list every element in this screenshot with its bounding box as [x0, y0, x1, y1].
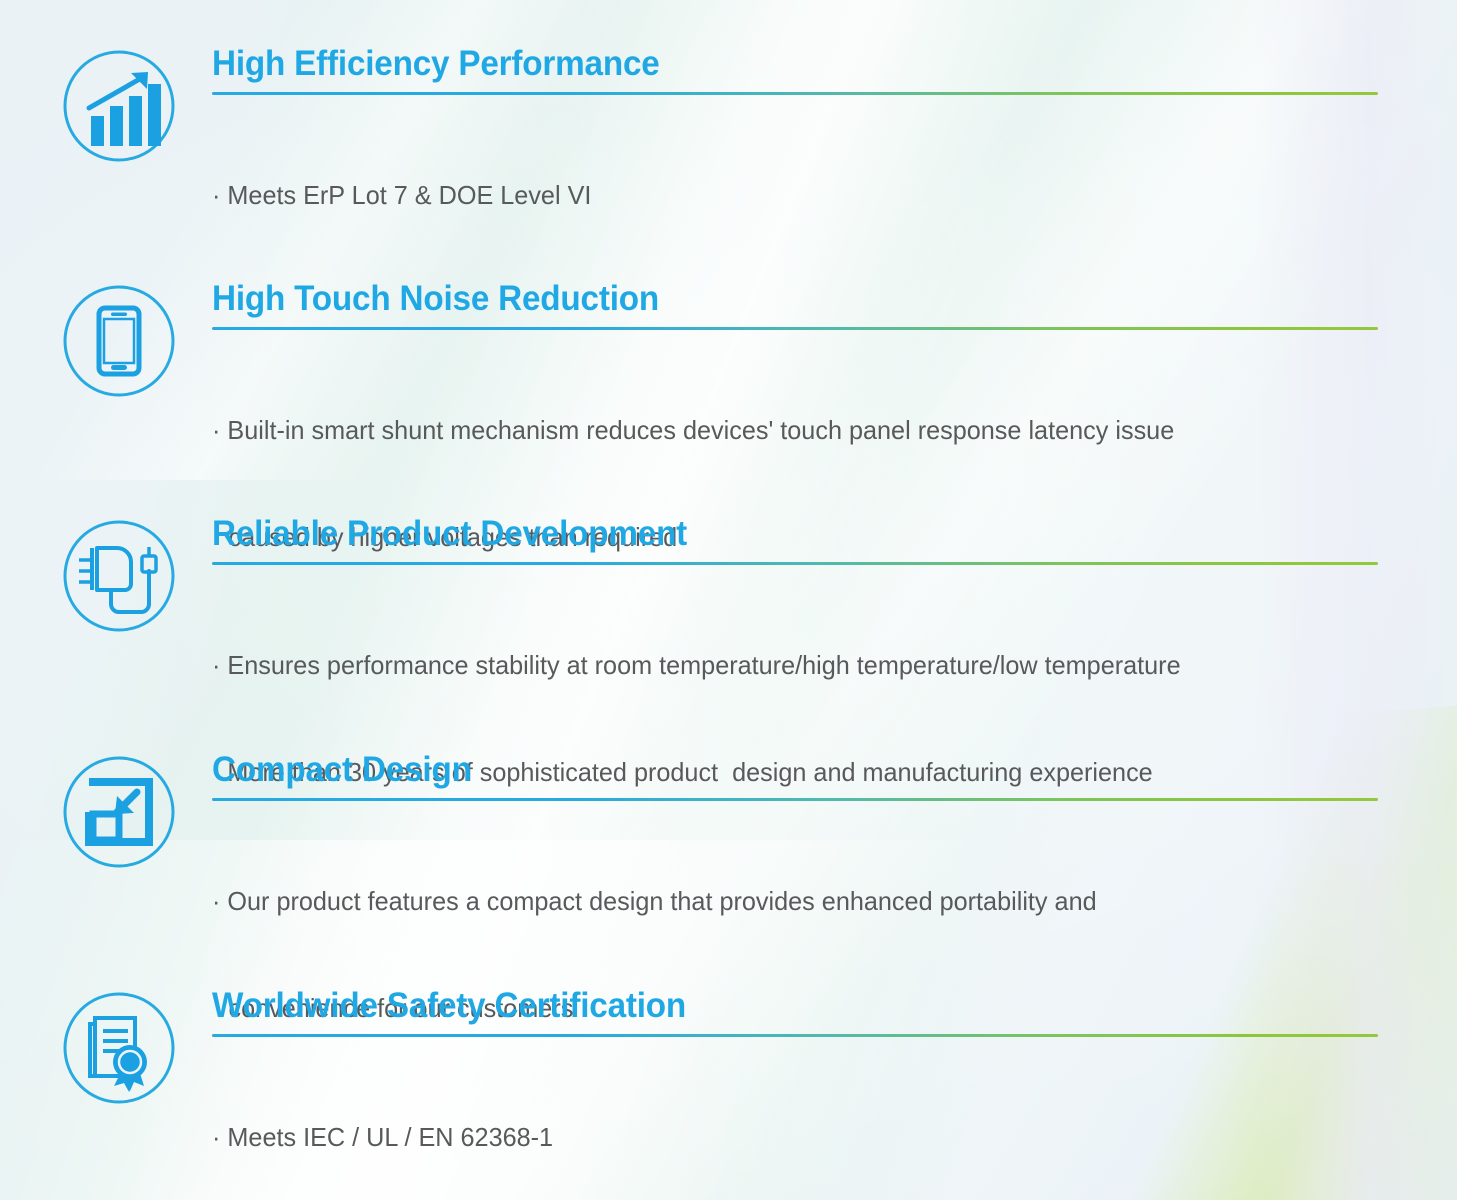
feature-title: Compact Design	[212, 752, 1320, 789]
description-line: · Built-in smart shunt mechanism reduces…	[212, 413, 1343, 449]
feature-divider	[212, 92, 1378, 95]
feature-text-block: Worldwide Safety Certification · Meets I…	[212, 988, 1457, 1200]
certificate-award-icon	[59, 988, 179, 1108]
feature-highlights-page: High Efficiency Performance · Meets ErP …	[0, 0, 1457, 1200]
feature-icon-container	[56, 516, 182, 636]
feature-title: High Touch Noise Reduction	[212, 281, 1320, 318]
description-line: · Meets IEC / UL / EN 62368-1	[212, 1120, 1343, 1156]
feature-divider	[212, 1034, 1378, 1037]
feature-divider	[212, 798, 1378, 801]
compact-resize-icon	[59, 752, 179, 872]
feature-icon-container	[56, 281, 182, 401]
feature-description: · Meets ErP Lot 7 & DOE Level VI	[212, 106, 1343, 285]
description-line: · Our product features a compact design …	[212, 884, 1343, 920]
feature-title: Reliable Product Development	[212, 516, 1320, 553]
feature-item-worldwide-safety-certification: Worldwide Safety Certification · Meets I…	[0, 988, 1457, 1200]
description-line: · Ensures performance stability at room …	[212, 648, 1343, 684]
power-adapter-icon	[59, 516, 179, 636]
feature-list: High Efficiency Performance · Meets ErP …	[0, 0, 1457, 1200]
bar-chart-growth-icon	[59, 46, 179, 166]
feature-text-block: High Efficiency Performance · Meets ErP …	[212, 46, 1457, 285]
feature-icon-container	[56, 46, 182, 166]
feature-divider	[212, 327, 1378, 330]
feature-icon-container	[56, 988, 182, 1108]
feature-icon-container	[56, 752, 182, 872]
smartphone-icon	[59, 281, 179, 401]
feature-title: High Efficiency Performance	[212, 46, 1320, 83]
feature-divider	[212, 562, 1378, 565]
feature-title: Worldwide Safety Certification	[212, 988, 1320, 1025]
description-line: · Meets ErP Lot 7 & DOE Level VI	[212, 178, 1343, 214]
feature-item-high-efficiency-performance: High Efficiency Performance · Meets ErP …	[0, 46, 1457, 285]
feature-description: · Meets IEC / UL / EN 62368-1	[212, 1048, 1343, 1200]
